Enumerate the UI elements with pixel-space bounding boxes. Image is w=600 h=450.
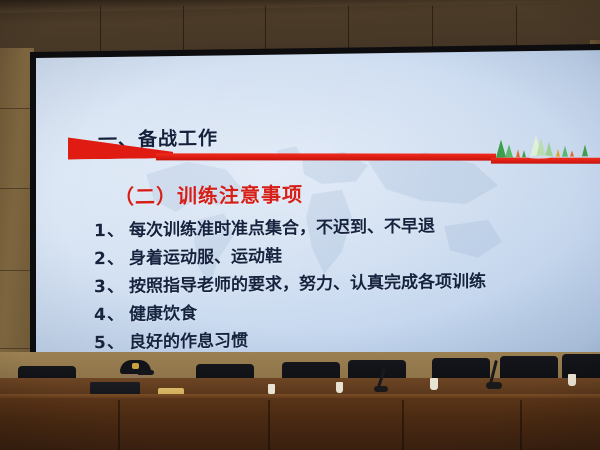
list-item-text: 每次训练准时准点集合，不迟到、不早退 xyxy=(129,218,435,239)
list-item-text: 按照指导老师的要求，努力、认真完成各项训练 xyxy=(129,274,486,296)
table-panel-seam xyxy=(268,400,270,450)
sailboat-decoration-icon xyxy=(488,132,598,160)
list-item: 1 、 每次训练准时准点集合，不迟到、不早退 xyxy=(94,216,594,240)
list-item-separator: 、 xyxy=(107,251,124,268)
list-item-number: 4 xyxy=(94,307,106,324)
table-panel-seam xyxy=(402,400,404,450)
list-item-text: 良好的作息习惯 xyxy=(129,333,248,352)
list-item-number: 1 xyxy=(94,223,106,240)
list-item-separator: 、 xyxy=(107,223,124,240)
table-panel-seam xyxy=(520,400,522,450)
slide-subtitle: （二）训练注意事项 xyxy=(114,178,303,210)
list-item-separator: 、 xyxy=(107,279,124,296)
list-item-number: 2 xyxy=(94,251,106,268)
table-front-panel xyxy=(0,398,600,450)
list-item-number: 3 xyxy=(94,279,106,296)
list-item: 3 、 按照指导老师的要求，努力、认真完成各项训练 xyxy=(94,272,594,296)
list-item-separator: 、 xyxy=(107,307,124,324)
cap-brim xyxy=(138,370,154,375)
slide-bullet-list: 1 、 每次训练准时准点集合，不迟到、不早退 2 、 身着运动服、运动鞋 3 、… xyxy=(94,216,594,363)
paper-cup xyxy=(430,378,438,390)
paper-cup xyxy=(336,382,343,393)
table-panel-seam xyxy=(118,400,120,450)
list-item: 5 、 良好的作息习惯 xyxy=(94,328,594,352)
list-item: 2 、 身着运动服、运动鞋 xyxy=(94,244,594,268)
cap-logo xyxy=(132,363,139,369)
microphone-base xyxy=(486,382,502,389)
paper-cup xyxy=(568,374,576,386)
list-item-separator: 、 xyxy=(107,335,124,352)
list-item-text: 健康饮食 xyxy=(129,306,197,324)
red-divider-bar xyxy=(156,153,496,160)
list-item: 4 、 健康饮食 xyxy=(94,300,594,324)
projection-screen: 一、备战工作 xyxy=(36,50,600,366)
microphone-base xyxy=(374,386,388,392)
conference-room-photo: 一、备战工作 xyxy=(0,0,600,450)
list-item-number: 5 xyxy=(94,335,106,352)
list-item-text: 身着运动服、运动鞋 xyxy=(129,249,282,268)
